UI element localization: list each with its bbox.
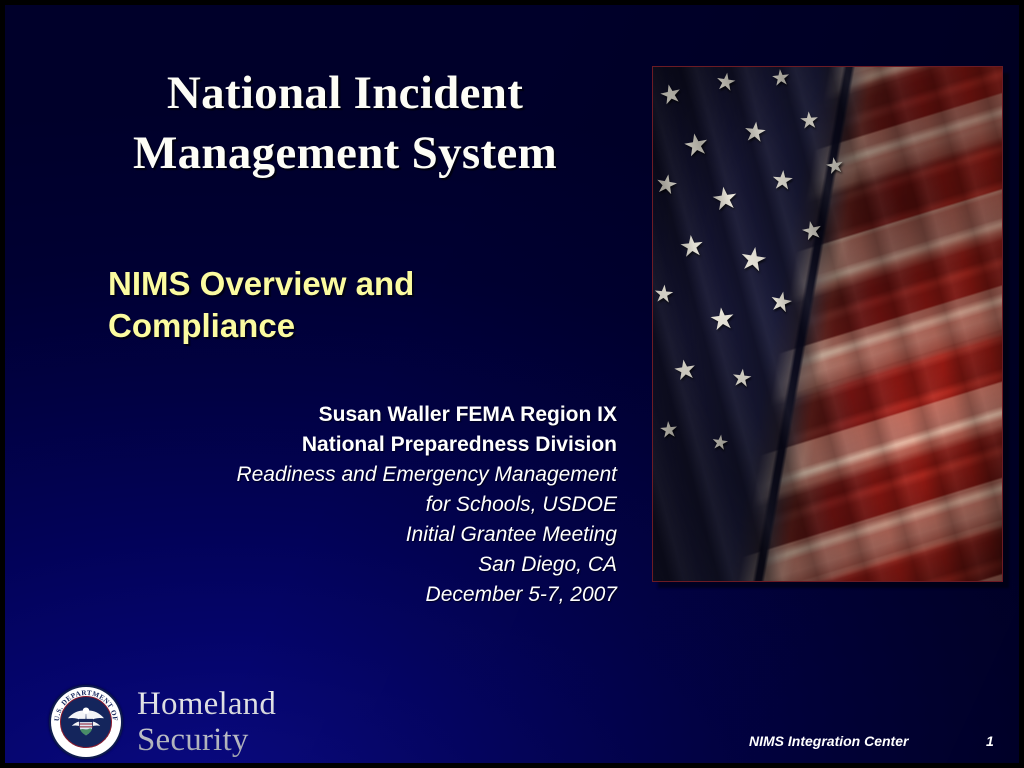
title-line-1: National Incident — [45, 63, 645, 123]
title-line-2: Management System — [45, 123, 645, 183]
dhs-wordmark-line-2: Security — [137, 722, 276, 758]
presentation-slide: ★ ★ ★ ★ ★ ★ ★ ★ ★ ★ ★ ★ ★ ★ ★ ★ ★ ★ ★ ★ … — [0, 0, 1024, 768]
subtitle-line-1: NIMS Overview and — [108, 263, 578, 305]
presenter-line-7: December 5-7, 2007 — [147, 580, 617, 610]
seal-eagle-shield-icon — [67, 705, 105, 739]
dhs-wordmark: Homeland Security — [137, 686, 276, 758]
presenter-line-5: Initial Grantee Meeting — [147, 520, 617, 550]
dhs-seal-icon: U.S. DEPARTMENT OF HOMELAND SECURITY — [49, 685, 123, 759]
presenter-info: Susan Waller FEMA Region IX National Pre… — [147, 400, 617, 610]
dhs-wordmark-line-1: Homeland — [137, 686, 276, 722]
footer-page-number: 1 — [986, 733, 994, 749]
american-flag-photo: ★ ★ ★ ★ ★ ★ ★ ★ ★ ★ ★ ★ ★ ★ ★ ★ ★ ★ ★ ★ — [652, 66, 1003, 582]
presenter-line-6: San Diego, CA — [147, 550, 617, 580]
dhs-logo: U.S. DEPARTMENT OF HOMELAND SECURITY — [49, 681, 319, 763]
presenter-line-4: for Schools, USDOE — [147, 490, 617, 520]
presenter-line-2: National Preparedness Division — [147, 430, 617, 460]
page-title: National Incident Management System — [45, 63, 645, 183]
flag-vignette — [653, 67, 1002, 581]
subtitle-line-2: Compliance — [108, 305, 578, 347]
footer-label: NIMS Integration Center — [749, 733, 908, 749]
presenter-line-1: Susan Waller FEMA Region IX — [147, 400, 617, 430]
presenter-line-3: Readiness and Emergency Management — [147, 460, 617, 490]
page-subtitle: NIMS Overview and Compliance — [108, 263, 578, 347]
